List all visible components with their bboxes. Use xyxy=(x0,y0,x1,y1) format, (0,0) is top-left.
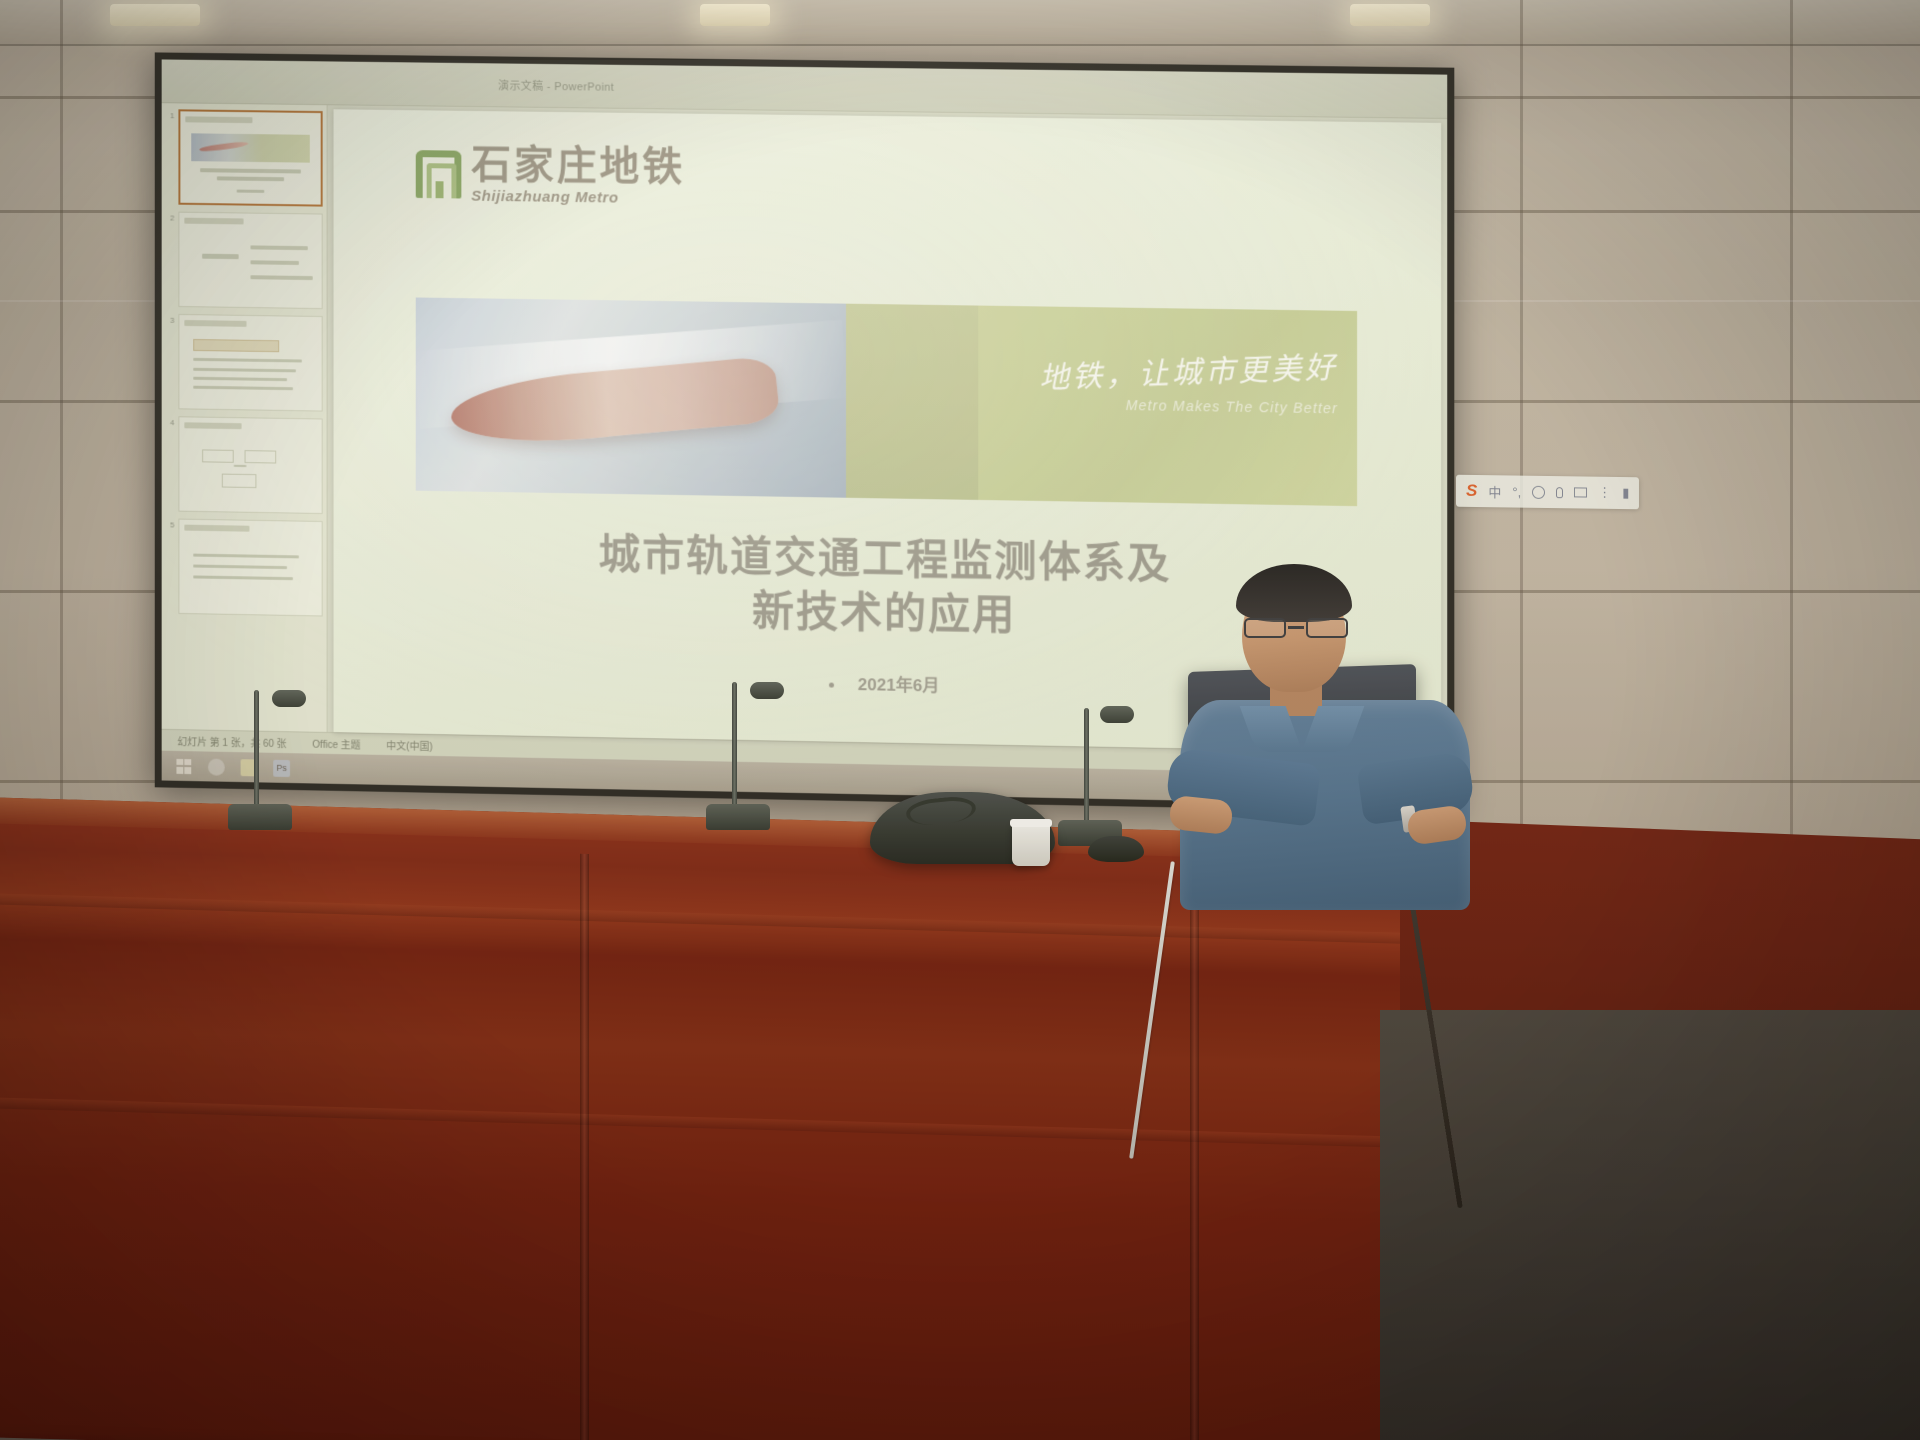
ceiling-light xyxy=(1350,4,1430,26)
ceiling-light xyxy=(110,4,200,26)
desk-seam xyxy=(580,854,589,1440)
room-scene: 演示文稿 - PowerPoint 1 xyxy=(0,0,1920,1440)
presenter-glasses xyxy=(1242,618,1350,638)
thumbnail-slide-4[interactable]: 4 xyxy=(166,416,323,514)
search-icon[interactable] xyxy=(208,758,225,775)
ime-chinese-mode-icon[interactable]: 中 xyxy=(1488,482,1501,501)
thumbnail-slide-1[interactable]: 1 xyxy=(166,109,323,206)
logo-chinese-text: 石家庄地铁 xyxy=(471,145,685,188)
thumbnail-preview xyxy=(178,416,322,514)
bullet-icon xyxy=(829,683,834,688)
metro-logo: 石家庄地铁 Shijiazhuang Metro xyxy=(416,145,685,208)
microphone xyxy=(228,690,292,830)
floor xyxy=(1380,1010,1920,1440)
thumbnail-slide-3[interactable]: 3 xyxy=(166,314,323,412)
ceiling xyxy=(0,0,1920,46)
start-button[interactable] xyxy=(175,757,192,774)
thumbnail-preview xyxy=(178,212,322,309)
paper-cup xyxy=(1012,822,1050,866)
banner-slogan: 地铁，让城市更美好 Metro Makes The City Better xyxy=(1039,345,1338,416)
ime-toolbox-icon[interactable]: ▮ xyxy=(1622,485,1629,501)
desk-seam xyxy=(1190,871,1199,1440)
slogan-english: Metro Makes The City Better xyxy=(1039,395,1338,416)
window-title: 演示文稿 - PowerPoint xyxy=(498,77,614,94)
thumbnail-slide-2[interactable]: 2 xyxy=(166,211,323,309)
ime-punctuation-icon[interactable]: °, xyxy=(1512,484,1521,499)
thumbnail-preview xyxy=(178,109,322,206)
microphone xyxy=(1058,706,1122,846)
desk-rail xyxy=(0,1097,1480,1150)
sogou-ime-toolbar[interactable]: S 中 °, ⋮ ▮ xyxy=(1456,475,1639,510)
presenter-left-hand xyxy=(1168,795,1233,835)
ime-keyboard-icon[interactable] xyxy=(1574,487,1587,497)
thumbnail-preview xyxy=(178,314,322,412)
presenter-hair xyxy=(1236,564,1352,622)
logo-english-text: Shijiazhuang Metro xyxy=(471,188,685,208)
shijiazhuang-metro-logo-icon xyxy=(416,151,462,199)
sogou-logo-icon[interactable]: S xyxy=(1466,481,1477,501)
computer-mouse xyxy=(1088,836,1144,862)
ceiling-light xyxy=(700,4,770,26)
microphone xyxy=(706,682,770,830)
ime-menu-icon[interactable]: ⋮ xyxy=(1598,485,1611,501)
language-label: 中文(中国) xyxy=(386,737,432,753)
slogan-chinese: 地铁，让城市更美好 xyxy=(1038,342,1339,397)
ime-emoji-icon[interactable] xyxy=(1532,485,1545,498)
slide-thumbnail-pane[interactable]: 1 2 xyxy=(162,103,328,732)
thumbnail-slide-5[interactable]: 5 xyxy=(166,518,323,616)
ime-voice-icon[interactable] xyxy=(1556,487,1563,498)
thumbnail-preview xyxy=(178,519,322,617)
theme-label: Office 主题 xyxy=(312,736,360,752)
slide-date-text: 2021年6月 xyxy=(858,675,939,696)
hero-banner-image: 地铁，让城市更美好 Metro Makes The City Better xyxy=(416,297,1357,506)
presenter xyxy=(1170,560,1470,900)
